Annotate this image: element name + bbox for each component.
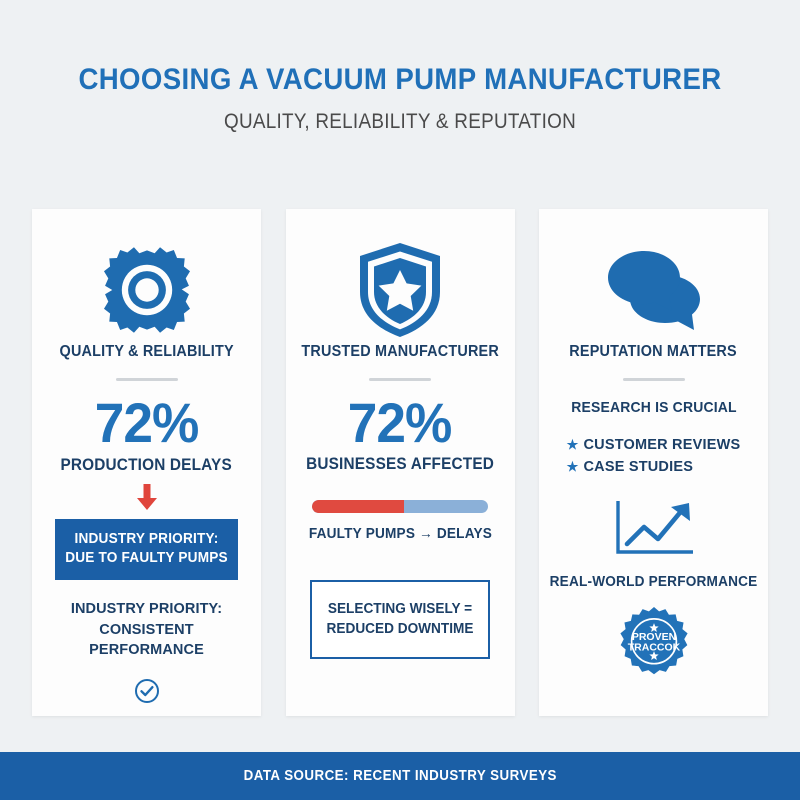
callout-box: SELECTING WISELY = REDUCED DOWNTIME (310, 580, 490, 659)
gear-icon (102, 237, 192, 343)
stat-value: 72% (348, 395, 452, 451)
list-item: ★CASE STUDIES (567, 456, 741, 478)
callout-line-2: REDUCED DOWNTIME (323, 619, 477, 639)
shield-star-icon (360, 237, 440, 343)
speech-bubbles-icon (608, 237, 700, 343)
check-circle-icon (134, 678, 160, 709)
card-heading: TRUSTED MANUFACTURER (301, 343, 499, 361)
header: CHOOSING A VACUUM PUMP MANUFACTURER QUAL… (0, 0, 800, 134)
seal-badge-icon: PROVEN TRACCOK (619, 607, 689, 682)
card-row: QUALITY & RELIABILITY 72% PRODUCTION DEL… (32, 209, 768, 716)
growth-chart-icon (613, 499, 695, 562)
progress-bar (312, 500, 488, 513)
stat-value: 72% (95, 395, 199, 451)
footer-bar: DATA SOURCE: RECENT INDUSTRY SURVEYS (0, 752, 800, 800)
list-item-label: CUSTOMER REVIEWS (584, 437, 741, 453)
banner-line-1: INDUSTRY PRIORITY: (64, 530, 229, 549)
stat-label: BUSINESSES AFFECTED (306, 455, 494, 474)
infographic-page: CHOOSING A VACUUM PUMP MANUFACTURER QUAL… (0, 0, 800, 800)
footer-text: DATA SOURCE: RECENT INDUSTRY SURVEYS (243, 768, 556, 784)
chart-caption: REAL-WORLD PERFORMANCE (550, 574, 758, 590)
page-subtitle: QUALITY, RELIABILITY & REPUTATION (40, 110, 760, 134)
list-item-label: CASE STUDIES (584, 459, 694, 475)
callout-line-1: SELECTING WISELY = (323, 599, 477, 619)
bullet-list: ★CUSTOMER REVIEWS ★CASE STUDIES (567, 434, 741, 479)
card-quality-reliability[interactable]: QUALITY & RELIABILITY 72% PRODUCTION DEL… (32, 209, 261, 716)
stat-label: PRODUCTION DELAYS (61, 456, 232, 475)
divider (623, 378, 685, 381)
down-arrow-icon (137, 484, 157, 510)
card-heading: REPUTATION MATTERS (570, 343, 738, 361)
card-heading: QUALITY & RELIABILITY (59, 343, 233, 361)
card-sub-heading: RESEARCH IS CRUCIAL (571, 399, 737, 416)
divider (116, 378, 178, 381)
divider (369, 378, 431, 381)
card-reputation-matters[interactable]: REPUTATION MATTERS RESEARCH IS CRUCIAL ★… (539, 209, 768, 716)
card-trusted-manufacturer[interactable]: TRUSTED MANUFACTURER 72% BUSINESSES AFFE… (286, 209, 515, 716)
highlight-banner: INDUSTRY PRIORITY: DUE TO FAULTY PUMPS (55, 519, 238, 580)
star-icon: ★ (567, 459, 579, 474)
progress-bar-label: FAULTY PUMPS → DELAYS (308, 526, 491, 542)
list-item: ★CUSTOMER REVIEWS (567, 434, 741, 456)
progress-bar-fill (312, 500, 404, 513)
badge-line-2: TRACCOK (627, 641, 680, 653)
card-body-text: INDUSTRY PRIORITY: CONSISTENT PERFORMANC… (52, 599, 242, 661)
page-title: CHOOSING A VACUUM PUMP MANUFACTURER (32, 63, 768, 97)
star-icon: ★ (567, 437, 579, 452)
banner-line-2: DUE TO FAULTY PUMPS (64, 549, 229, 568)
